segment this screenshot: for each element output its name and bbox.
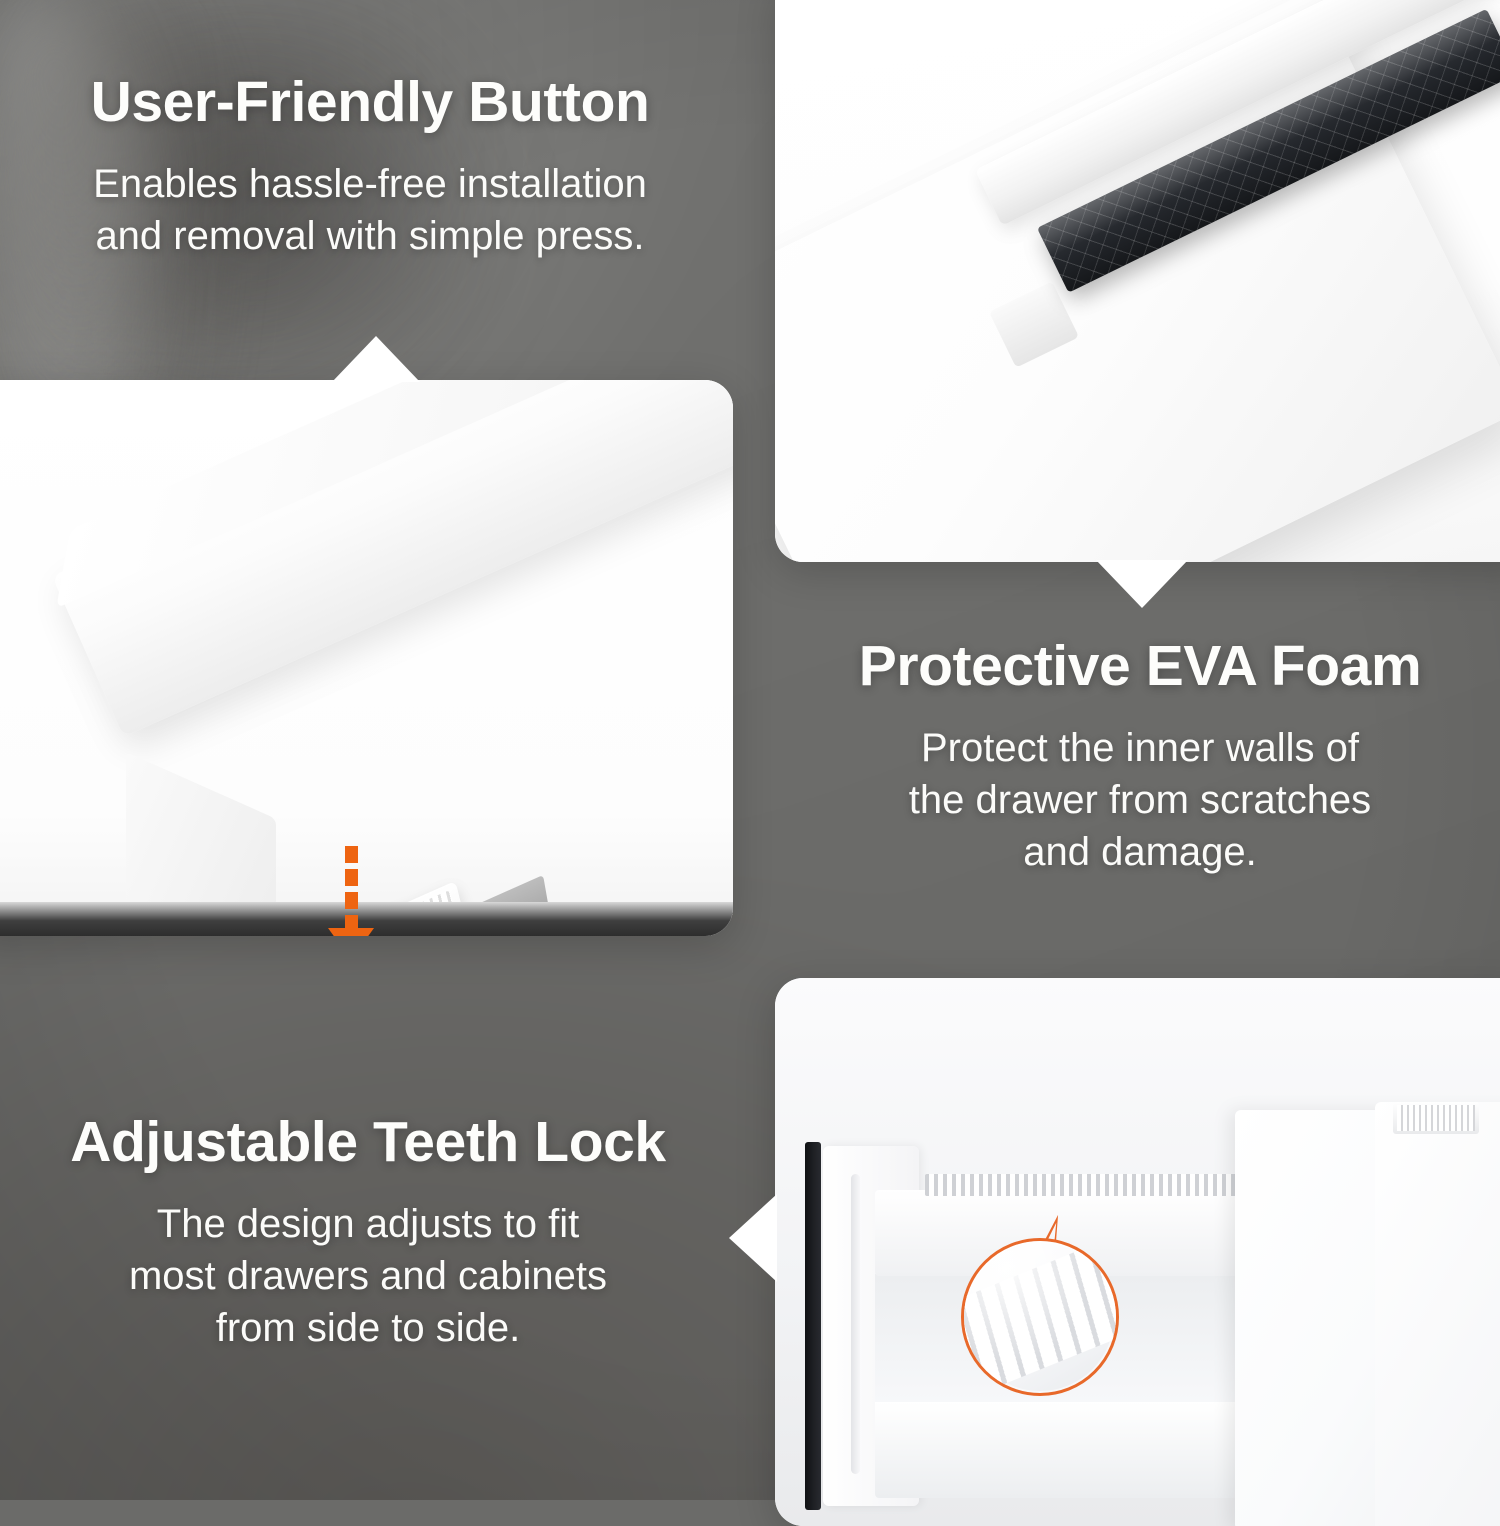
outer-sleeve-far <box>1375 1102 1500 1526</box>
release-tab-ridged <box>1393 1102 1479 1134</box>
product-photo-press-button <box>0 380 733 936</box>
feature-body-line: The design adjusts to fit <box>42 1198 694 1250</box>
callout-gloss <box>964 1241 1116 1393</box>
photo-canvas <box>775 978 1500 1526</box>
feature-text-protective-eva-foam: Protective EVA Foam Protect the inner wa… <box>820 636 1460 878</box>
release-tab-ridges <box>1397 1105 1475 1131</box>
product-photo-eva-foam <box>775 0 1500 562</box>
inner-rail-bottom <box>875 1402 1265 1498</box>
photo-canvas <box>775 0 1500 562</box>
ratchet-teeth-rack <box>925 1174 1255 1196</box>
feature-body-line: Enables hassle-free installation <box>46 158 694 210</box>
left-triangle-pointer-icon <box>729 1194 777 1282</box>
photo-canvas <box>0 380 733 936</box>
teeth-zoom-callout-icon <box>961 1238 1119 1396</box>
feature-heading: Adjustable Teeth Lock <box>42 1112 694 1172</box>
feature-body: Protect the inner walls of the drawer fr… <box>820 722 1460 878</box>
feature-body: Enables hassle-free installation and rem… <box>46 158 694 262</box>
feature-body-line: most drawers and cabinets <box>42 1250 694 1302</box>
press-down-arrow-icon <box>323 846 379 936</box>
feature-text-user-friendly-button: User-Friendly Button Enables hassle-free… <box>46 72 694 262</box>
feature-heading: User-Friendly Button <box>46 72 694 132</box>
feature-body-line: and damage. <box>820 826 1460 878</box>
feature-body: The design adjusts to fit most drawers a… <box>42 1198 694 1354</box>
feature-body-line: and removal with simple press. <box>46 210 694 262</box>
feature-heading: Protective EVA Foam <box>820 636 1460 696</box>
up-triangle-pointer-icon <box>332 336 420 382</box>
feature-body-line: from side to side. <box>42 1302 694 1354</box>
feature-body-line: Protect the inner walls of <box>820 722 1460 774</box>
feature-text-adjustable-teeth-lock: Adjustable Teeth Lock The design adjusts… <box>42 1112 694 1354</box>
left-eva-foam-strip <box>805 1142 821 1510</box>
end-cap-groove <box>851 1174 860 1474</box>
down-triangle-pointer-icon <box>1096 560 1188 608</box>
product-photo-teeth-lock <box>775 978 1500 1526</box>
feature-body-line: the drawer from scratches <box>820 774 1460 826</box>
